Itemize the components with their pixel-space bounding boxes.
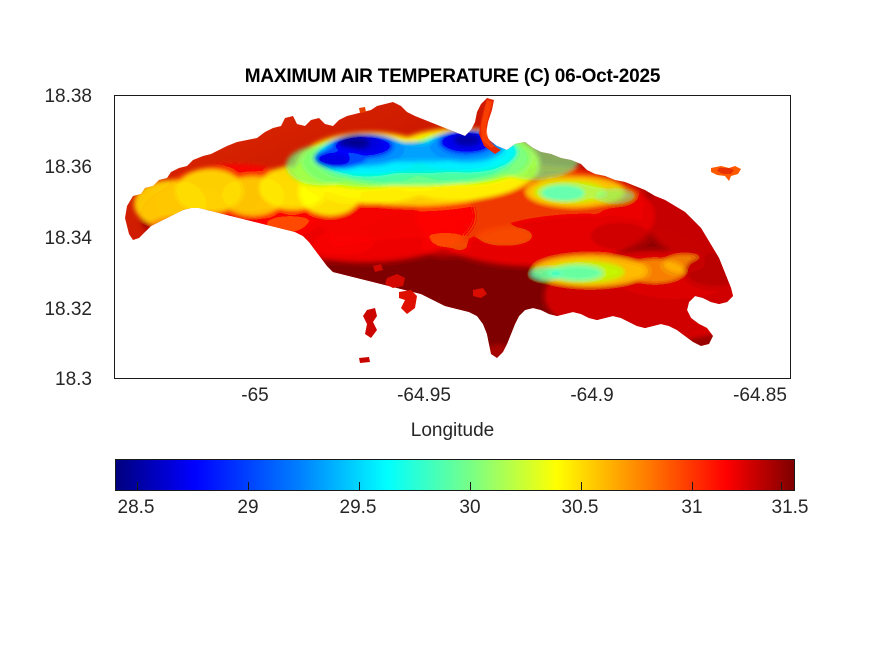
ytick-label-0: 18.38: [0, 86, 92, 108]
ytick-label-2: 18.34: [0, 228, 92, 250]
colorbar-tick-5: [692, 482, 693, 490]
colorbar-tick-2: [359, 482, 360, 490]
xtick-label-3: -64.85: [700, 385, 820, 407]
colorbar-tick-0: [137, 482, 138, 490]
colorbar-label-0: 28.5: [81, 497, 191, 519]
colorbar-label-4: 30.5: [525, 497, 635, 519]
colorbar[interactable]: [115, 459, 795, 491]
xtick-label-1: -64.95: [364, 385, 484, 407]
colorbar-label-5: 31: [637, 497, 747, 519]
colorbar-tick-3: [470, 482, 471, 490]
x-axis-label: Longitude: [114, 420, 791, 442]
colorbar-label-1: 29: [193, 497, 303, 519]
page-title: MAXIMUM AIR TEMPERATURE (C) 06-Oct-2025: [114, 66, 791, 88]
north-speck: [359, 107, 366, 113]
ytick-label-3: 18.32: [0, 299, 92, 321]
xtick-label-2: -64.9: [532, 385, 652, 407]
ytick-label-4: 18.3: [0, 369, 92, 391]
colorbar-label-2: 29.5: [303, 497, 413, 519]
colorbar-label-6: 31.5: [735, 497, 845, 519]
colorbar-tick-4: [581, 482, 582, 490]
map-plot-area[interactable]: [114, 95, 791, 379]
colorbar-tick-1: [248, 482, 249, 490]
colorbar-label-3: 30: [415, 497, 525, 519]
figure-canvas: MAXIMUM AIR TEMPERATURE (C) 06-Oct-2025 …: [0, 0, 875, 656]
colorbar-tick-6: [781, 482, 782, 490]
xtick-label-0: -65: [195, 385, 315, 407]
island-temperature-field: [115, 96, 790, 378]
ytick-label-1: 18.36: [0, 157, 92, 179]
temperature-heatmap: [115, 96, 790, 378]
